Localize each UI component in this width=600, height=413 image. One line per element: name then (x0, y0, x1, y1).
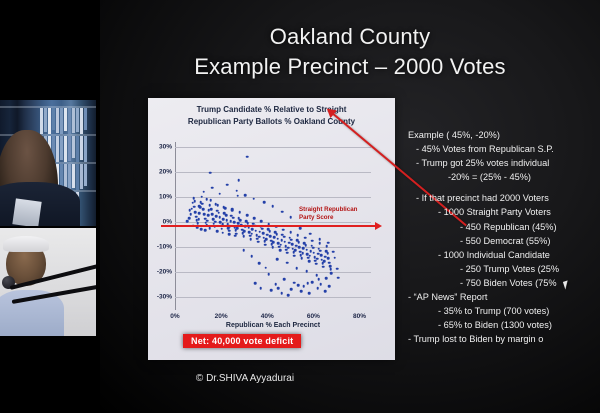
data-point (315, 274, 318, 277)
data-point (186, 220, 189, 223)
data-point (193, 205, 196, 208)
data-point (280, 239, 283, 242)
data-point (189, 213, 192, 216)
data-point (329, 265, 332, 268)
data-point (296, 234, 299, 237)
data-point (301, 252, 304, 255)
data-point (280, 244, 283, 247)
data-point (276, 258, 279, 261)
data-point (225, 214, 228, 217)
annotation-line-1: Straight Republican (299, 206, 357, 213)
data-point (281, 210, 284, 213)
data-point (268, 230, 271, 233)
data-point (211, 213, 214, 216)
data-point (202, 208, 205, 211)
data-point (302, 285, 305, 288)
data-point (301, 257, 304, 260)
data-point (221, 231, 224, 234)
data-point (221, 227, 224, 230)
x-axis-tick-label: 0% (170, 313, 179, 320)
data-point (297, 241, 300, 244)
participant-cap (3, 236, 49, 252)
slide-title-line-1: Oakland County (270, 24, 431, 49)
data-point (327, 242, 330, 245)
data-point (300, 290, 303, 293)
data-point (332, 251, 335, 254)
data-point (232, 216, 235, 219)
data-point (311, 239, 314, 242)
data-point (308, 292, 311, 295)
data-point (319, 238, 322, 241)
gridline (175, 297, 371, 298)
data-point (291, 243, 294, 246)
data-point (216, 230, 219, 233)
data-point (233, 221, 236, 224)
data-point (307, 282, 310, 285)
x-axis-tick-label: 40% (261, 313, 274, 320)
data-point (274, 283, 277, 286)
data-point (207, 214, 210, 217)
data-point (259, 287, 262, 290)
data-point (257, 241, 260, 244)
data-point (206, 198, 209, 201)
notes-line: - 35% to Trump (700 votes) (408, 304, 600, 318)
data-point (197, 218, 200, 221)
data-point (204, 229, 207, 232)
notes-line: - 1000 Individual Candidate (408, 248, 600, 262)
chart-title: Trump Candidate % Relative to Straight R… (148, 104, 395, 127)
data-point (283, 240, 286, 243)
gridline (175, 172, 371, 173)
data-point (198, 205, 201, 208)
data-point (251, 228, 254, 231)
data-point (287, 294, 290, 297)
y-axis-tick-label: -10% (157, 244, 172, 251)
notes-line: Example ( 45%, -20%) (408, 128, 600, 142)
presentation-slide: Oakland County Example Precinct – 2000 V… (100, 0, 600, 413)
data-point (309, 232, 312, 235)
data-point (298, 246, 301, 249)
data-point (269, 235, 272, 238)
data-point (295, 267, 298, 270)
data-point (264, 243, 267, 246)
annotation-line-2: Party Score (299, 214, 333, 221)
data-point (242, 249, 245, 252)
data-point (218, 216, 221, 219)
data-point (246, 155, 249, 158)
data-point (215, 215, 218, 218)
data-point (236, 189, 239, 192)
data-point (294, 249, 297, 252)
data-point (228, 233, 231, 236)
notes-line: - 250 Trump Votes (25% (408, 262, 600, 276)
data-point (289, 216, 292, 219)
data-point (203, 213, 206, 216)
data-point (222, 218, 225, 221)
data-point (258, 262, 261, 265)
data-point (302, 247, 305, 250)
data-point (250, 232, 253, 235)
notes-line: - 1000 Straight Party Voters (408, 205, 600, 219)
data-point (328, 285, 331, 288)
data-point (262, 232, 265, 235)
data-point (198, 212, 201, 215)
data-point (237, 179, 240, 182)
data-point (266, 233, 269, 236)
data-point (311, 281, 314, 284)
data-point (223, 206, 226, 209)
data-point (289, 231, 292, 234)
explanatory-notes-list: Example ( 45%, -20%)- 45% Votes from Rep… (408, 128, 600, 346)
data-point (312, 247, 315, 250)
data-point (188, 217, 191, 220)
data-point (214, 203, 217, 206)
data-point (273, 236, 276, 239)
data-point (194, 211, 197, 214)
data-point (258, 235, 261, 238)
data-point (319, 249, 322, 252)
data-point (200, 195, 203, 198)
data-point (290, 288, 293, 291)
data-point (260, 220, 263, 223)
data-point (270, 289, 273, 292)
data-point (271, 246, 274, 249)
page-title: Oakland County Example Precinct – 2000 V… (100, 22, 600, 82)
data-point (243, 230, 246, 233)
straight-republican-party-score-annotation: Straight Republican Party Score (299, 206, 357, 222)
data-point (263, 201, 266, 204)
data-point (319, 283, 322, 286)
data-point (201, 202, 204, 205)
data-point (318, 278, 321, 281)
x-axis-tick-label: 60% (307, 313, 320, 320)
plot-area: 30%20%10%0%-10%-20%-30% 0%20%40%60%80% S… (175, 142, 371, 310)
data-point (253, 197, 256, 200)
y-axis-tick-label: 20% (159, 169, 172, 176)
data-point (290, 238, 293, 241)
data-point (283, 235, 286, 238)
data-point (254, 282, 257, 285)
data-point (214, 220, 217, 223)
data-point (209, 204, 212, 207)
zero-reference-arrow (161, 225, 376, 227)
data-point (267, 273, 270, 276)
data-point (272, 241, 275, 244)
data-point (276, 237, 279, 240)
data-point (282, 228, 285, 231)
data-point (293, 254, 296, 257)
notes-spacer (408, 184, 600, 191)
data-point (318, 242, 321, 245)
data-point (317, 253, 320, 256)
data-point (313, 251, 316, 254)
data-point (299, 227, 302, 230)
data-point (254, 229, 257, 232)
y-axis-tick-label: -20% (157, 269, 172, 276)
data-point (226, 184, 229, 187)
data-point (259, 230, 262, 233)
participant-collar (12, 198, 41, 226)
data-point (324, 255, 327, 258)
data-point (337, 277, 340, 280)
data-point (250, 255, 253, 258)
copyright-notice: © Dr.SHIVA Ayyadurai (100, 373, 390, 384)
data-point (209, 199, 212, 202)
y-axis-tick-label: 30% (159, 144, 172, 151)
data-point (288, 242, 291, 245)
data-point (265, 238, 268, 241)
net-deficit-banner: Net: 40,000 vote deficit (183, 334, 301, 348)
data-point (286, 262, 289, 265)
data-point (286, 252, 289, 255)
data-point (325, 245, 328, 248)
data-point (305, 249, 308, 252)
data-point (309, 250, 312, 253)
x-axis-tick-label: 20% (215, 313, 228, 320)
data-point (287, 246, 290, 249)
notes-line: - 450 Republican (45%) (408, 220, 600, 234)
gridline (175, 147, 371, 148)
data-point (316, 287, 319, 290)
participant-video-tile-bottom[interactable] (0, 228, 96, 336)
data-point (322, 265, 325, 268)
data-point (328, 261, 331, 264)
data-point (306, 270, 309, 273)
data-point (234, 234, 237, 237)
data-point (246, 214, 249, 217)
notes-line: -20% = (25% - 45%) (408, 170, 600, 184)
data-point (228, 229, 231, 232)
data-point (225, 219, 228, 222)
data-point (188, 209, 191, 212)
data-point (295, 244, 298, 247)
data-point (316, 257, 319, 260)
data-point (206, 219, 209, 222)
data-point (271, 205, 274, 208)
y-axis-tick-label: 10% (159, 194, 172, 201)
data-point (239, 219, 242, 222)
data-point (297, 284, 300, 287)
video-call-participants-strip (0, 0, 100, 413)
y-axis-tick-label: -30% (157, 294, 172, 301)
data-point (261, 227, 264, 230)
data-point (283, 278, 286, 281)
data-point (200, 228, 203, 231)
notes-line: - “AP News” Report (408, 290, 600, 304)
data-point (330, 268, 333, 271)
data-point (323, 260, 326, 263)
data-point (327, 257, 330, 260)
data-point (203, 190, 206, 193)
data-point (230, 220, 233, 223)
participant-video-tile-top[interactable] (0, 100, 96, 226)
data-point (320, 254, 323, 257)
gridline (175, 272, 371, 273)
data-point (231, 208, 234, 211)
data-point (236, 194, 239, 197)
gridline (175, 197, 371, 198)
data-point (293, 281, 296, 284)
data-point (209, 171, 212, 174)
notes-line: - Trump lost to Biden by margin o (408, 332, 600, 346)
data-point (309, 255, 312, 258)
x-axis-label: Republican % Each Precinct (175, 322, 371, 329)
data-point (280, 292, 283, 295)
notes-line: - 550 Democrat (55%) (408, 234, 600, 248)
data-point (217, 211, 220, 214)
data-point (217, 204, 220, 207)
data-point (277, 287, 280, 290)
data-point (246, 222, 249, 225)
data-point (211, 186, 214, 189)
data-point (250, 238, 253, 241)
data-point (242, 235, 245, 238)
data-point (330, 272, 333, 275)
data-point (325, 277, 328, 280)
data-point (236, 227, 239, 230)
data-point (194, 200, 197, 203)
data-point (304, 236, 307, 239)
data-point (326, 252, 329, 255)
data-point (304, 244, 307, 247)
data-point (218, 192, 221, 195)
notes-line: - If that precinct had 2000 Voters (408, 191, 600, 205)
slide-title-line-2: Example Precinct – 2000 Votes (100, 52, 600, 82)
data-point (333, 257, 336, 260)
data-point (265, 267, 268, 270)
data-point (324, 290, 327, 293)
data-point (315, 263, 318, 266)
data-point (210, 208, 213, 211)
data-point (308, 260, 311, 263)
data-point (336, 268, 339, 271)
data-point (275, 233, 278, 236)
data-point (279, 249, 282, 252)
data-point (238, 211, 241, 214)
data-point (253, 217, 256, 220)
x-axis-tick-label: 80% (353, 313, 366, 320)
data-point (208, 227, 211, 230)
notes-line: - Trump got 25% votes individual (408, 156, 600, 170)
notes-line: - 750 Biden Votes (75% (408, 276, 600, 290)
notes-line: - 45% Votes from Republican S.P. (408, 142, 600, 156)
data-point (244, 194, 247, 197)
notes-line: - 65% to Biden (1300 votes) (408, 318, 600, 332)
